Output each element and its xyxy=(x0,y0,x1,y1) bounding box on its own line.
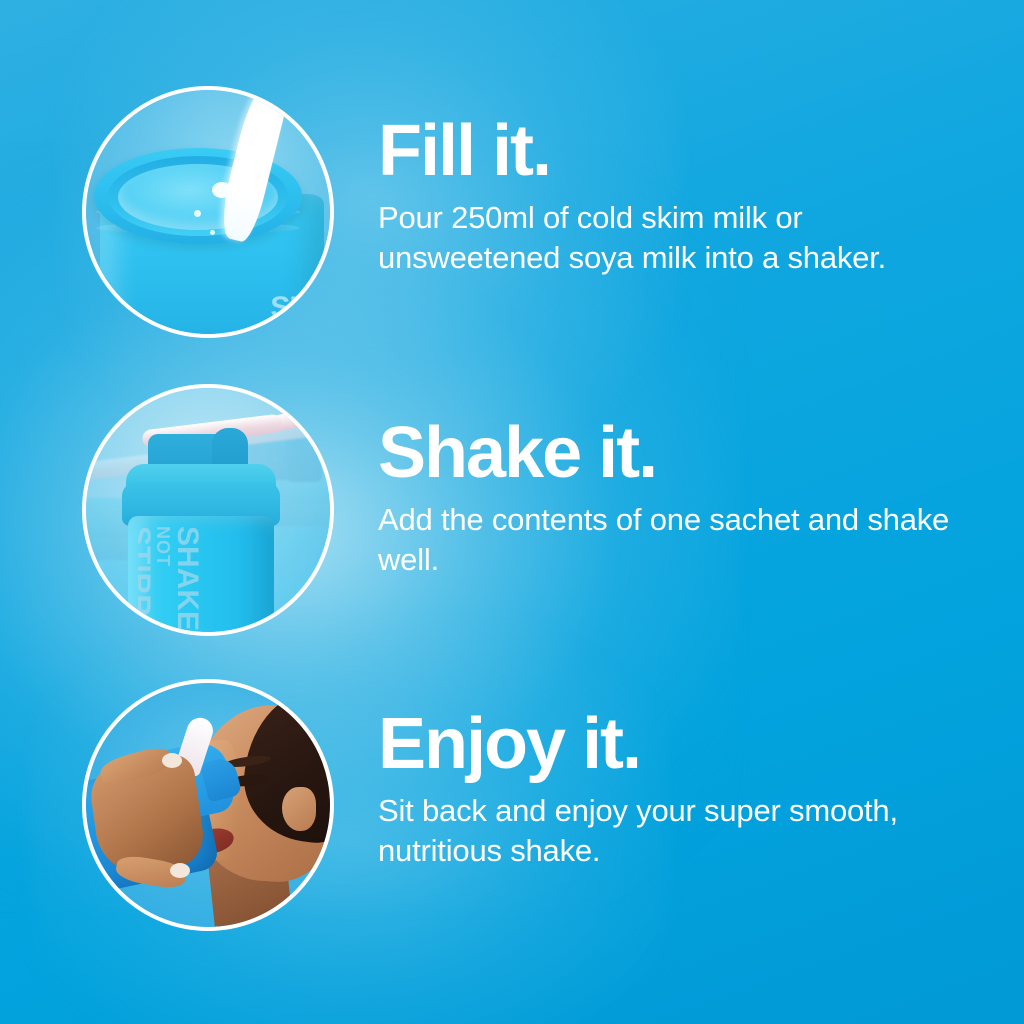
step-text-fill: Fill it. Pour 250ml of cold skim milk or… xyxy=(378,118,1008,278)
step-text-enjoy: Enjoy it. Sit back and enjoy your super … xyxy=(378,711,1008,871)
poster-stage: SH N Fill it. Pour 250ml of cold skim mi… xyxy=(0,0,1024,1024)
step-text-shake: Shake it. Add the contents of one sachet… xyxy=(378,420,1008,580)
step-heading-enjoy: Enjoy it. xyxy=(378,711,1008,777)
step-row-enjoy: Enjoy it. Sit back and enjoy your super … xyxy=(0,679,1024,939)
fingernail-1 xyxy=(162,753,182,768)
step-heading-fill: Fill it. xyxy=(378,118,1008,184)
step-row-shake: SHAKEN NOT STIRRED Shake it. Add the con… xyxy=(0,384,1024,644)
step-body-fill: Pour 250ml of cold skim milk or unsweete… xyxy=(378,198,993,277)
milk-splash xyxy=(212,182,232,198)
shaker-bottle-photo: SHAKEN NOT STIRRED xyxy=(82,384,334,636)
ear xyxy=(282,787,316,831)
photo-inner-3 xyxy=(86,683,330,927)
jar-brand-text: SH N xyxy=(270,295,310,332)
step-heading-shake: Shake it. xyxy=(378,420,1008,486)
photo-inner-2: SHAKEN NOT STIRRED xyxy=(86,388,330,632)
photo-inner-1: SH N xyxy=(86,90,330,334)
step-body-shake: Add the contents of one sachet and shake… xyxy=(378,500,993,579)
step-row-fill: SH N Fill it. Pour 250ml of cold skim mi… xyxy=(0,86,1024,346)
milk-droplet-1 xyxy=(194,210,201,217)
milk-droplet-2 xyxy=(210,230,215,235)
step-body-enjoy: Sit back and enjoy your super smooth, nu… xyxy=(378,791,993,870)
bottle-body xyxy=(128,516,274,632)
fingernail-2 xyxy=(170,863,190,878)
woman-drinking-shake-photo xyxy=(82,679,334,931)
pouring-milk-into-shaker-photo: SH N xyxy=(82,86,334,338)
